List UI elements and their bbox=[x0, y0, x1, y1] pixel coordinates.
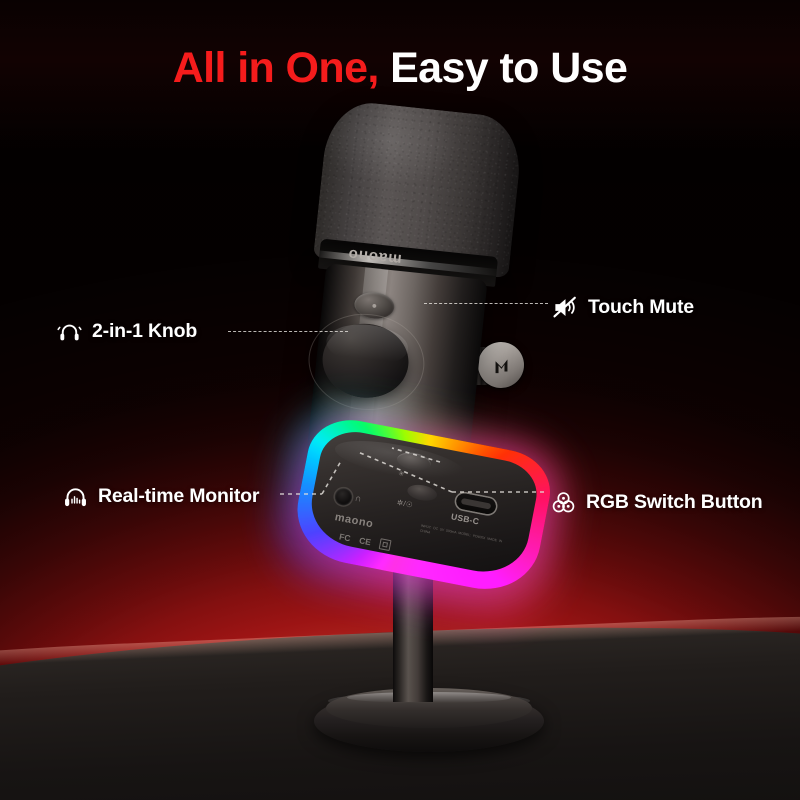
leader-line-knob bbox=[228, 331, 348, 332]
headphone-knob-icon bbox=[56, 318, 83, 345]
usb-c-label: USB-C bbox=[450, 511, 480, 526]
headline-white-part: Easy to Use bbox=[390, 44, 627, 92]
brand-name-body: maono bbox=[347, 245, 403, 268]
cert-ce-icon: CE bbox=[358, 535, 372, 547]
product-feature-image: All in One, Easy to Use maono bbox=[0, 0, 800, 800]
callout-real-time-monitor[interactable]: Real-time Monitor bbox=[62, 483, 259, 510]
usb-c-port[interactable] bbox=[455, 492, 497, 515]
mic-capsule-assembly: maono ● ✳ ✲/☉ ∩ bbox=[261, 108, 554, 552]
power-button-glyph: ✲/☉ bbox=[396, 498, 414, 510]
cert-fcc-icon: FC bbox=[338, 531, 351, 543]
page-title: All in One, Easy to Use bbox=[0, 44, 800, 93]
headphone-jack[interactable] bbox=[333, 487, 353, 507]
headline-red-part: All in One, bbox=[173, 44, 379, 92]
regulatory-fineprint: INPUT: DC 5V 500mA MODEL: PD400X MADE IN… bbox=[420, 524, 512, 551]
callout-two-in-one-knob[interactable]: 2-in-1 Knob bbox=[56, 318, 197, 345]
leader-line-mute bbox=[424, 303, 548, 304]
rgb-button-glyph: ✳ bbox=[398, 469, 405, 478]
rgb-circles-icon bbox=[550, 489, 577, 516]
brand-name-base: maono bbox=[334, 511, 375, 530]
rgb-switch-button[interactable] bbox=[396, 450, 433, 473]
callout-touch-mute[interactable]: Touch Mute bbox=[552, 294, 694, 321]
headphone-waveform-icon bbox=[62, 483, 89, 510]
mic-base-plate-assembly: ✳ ✲/☉ ∩ USB-C maono INPUT: DC 5V 500mA M… bbox=[288, 412, 557, 598]
cert-weee-icon bbox=[379, 538, 392, 551]
callout-label-knob: 2-in-1 Knob bbox=[92, 320, 197, 343]
headphone-jack-glyph: ∩ bbox=[354, 493, 362, 504]
callout-label-monitor: Real-time Monitor bbox=[98, 485, 259, 508]
mute-pad-glyph: ● bbox=[371, 300, 377, 311]
callout-label-mute: Touch Mute bbox=[588, 296, 694, 319]
callout-rgb-switch-button[interactable]: RGB Switch Button bbox=[550, 489, 762, 516]
callout-label-rgb: RGB Switch Button bbox=[586, 491, 762, 514]
speaker-mute-icon bbox=[552, 294, 579, 321]
microphone-product: maono ● ✳ ✲/☉ ∩ bbox=[252, 100, 592, 790]
